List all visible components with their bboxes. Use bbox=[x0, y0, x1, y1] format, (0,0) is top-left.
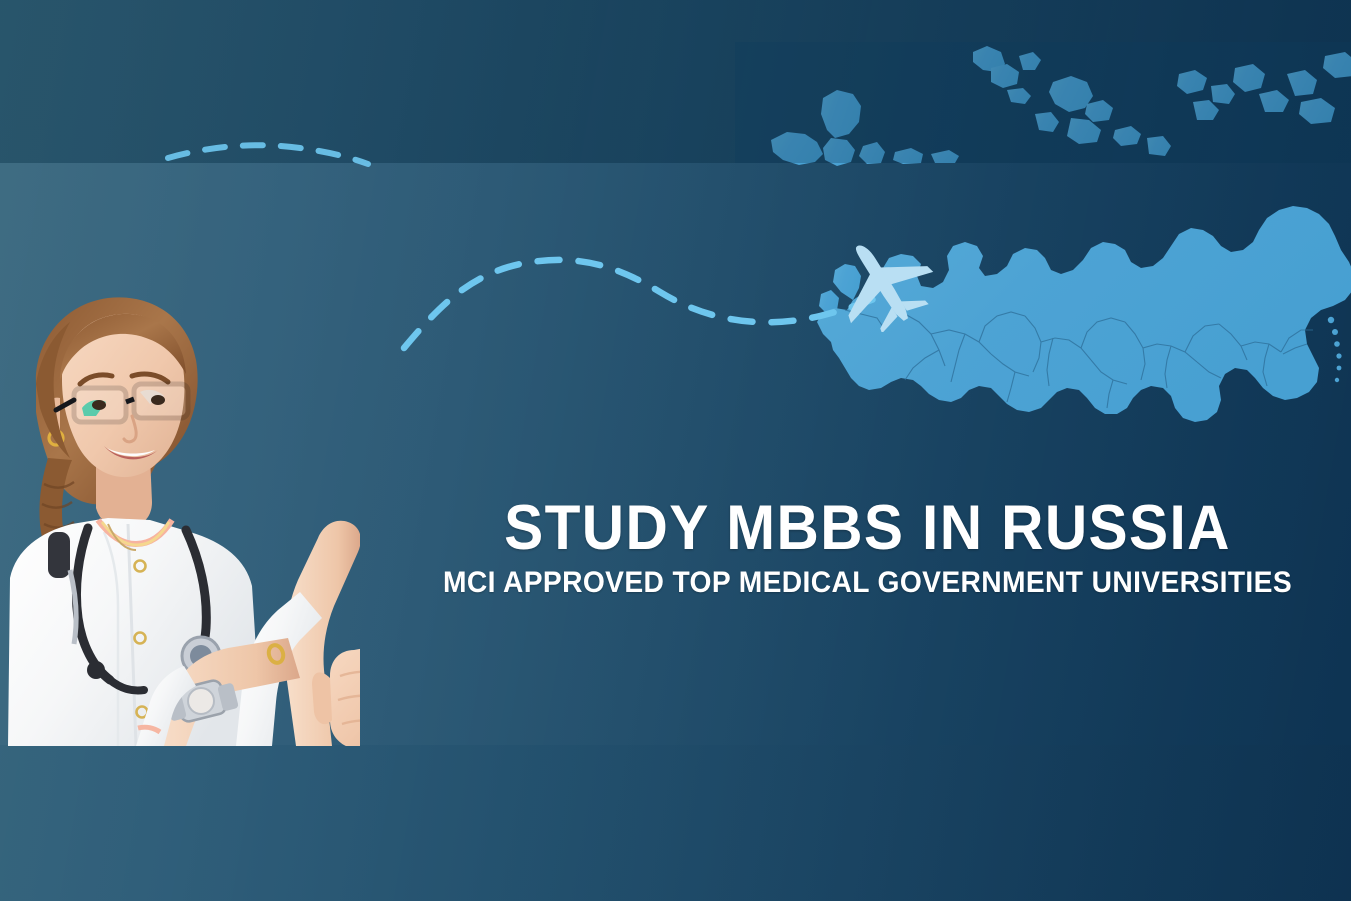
glasses-icon bbox=[56, 384, 188, 422]
airplane-icon bbox=[828, 232, 938, 332]
doctor-photo bbox=[0, 288, 360, 746]
page-title: STUDY MBBS IN RUSSIA bbox=[433, 495, 1303, 561]
banner: STUDY MBBS IN RUSSIA MCI APPROVED TOP ME… bbox=[0, 0, 1351, 901]
page-subtitle: MCI APPROVED TOP MEDICAL GOVERNMENT UNIV… bbox=[428, 567, 1307, 599]
banner-text-block: STUDY MBBS IN RUSSIA MCI APPROVED TOP ME… bbox=[400, 495, 1335, 599]
background-band-bottom bbox=[0, 745, 1351, 901]
